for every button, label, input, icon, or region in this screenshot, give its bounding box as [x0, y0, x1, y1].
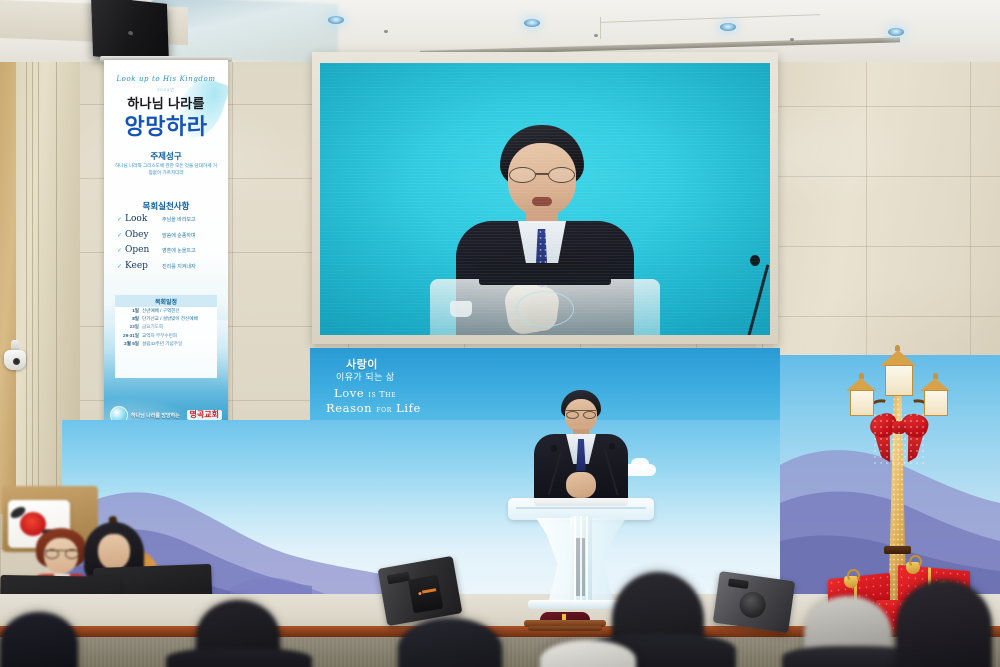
list-item: ✓ Open 영혼에 눈을뜨고 — [117, 245, 220, 255]
vision-banner: Look up to His Kingdom 2024년 하나님 나라를 앙망하… — [104, 60, 228, 430]
congregation-head — [0, 612, 78, 667]
practice-english: Keep — [125, 261, 159, 271]
banner-practice-list: ✓ Look 주님을 바라보고 ✓ Obey 말씀에 순종하며 ✓ Open 영… — [117, 214, 220, 276]
red-ribbon-bow — [872, 412, 926, 464]
list-item: ✓ Keep 진리를 지켜내자 — [117, 261, 220, 271]
microphone-head-icon — [609, 443, 615, 450]
face — [98, 534, 130, 570]
wall-text-isthe: is The — [369, 390, 397, 399]
sanctuary-scene: Look up to His Kingdom 2024년 하나님 나라를 앙망하… — [0, 0, 1000, 667]
banner-logo-korean: 하나님 나라를 앙망하는 — [131, 412, 184, 419]
banner-section1-heading: 주제성구 — [104, 150, 228, 162]
wall-text-life: Life — [396, 401, 421, 415]
practice-korean: 말씀에 순종하며 — [162, 232, 196, 239]
practice-english: Look — [125, 214, 159, 224]
wall-text-english-line2: Reason for Life — [326, 401, 421, 415]
hands — [566, 472, 596, 498]
hanging-speaker — [91, 0, 169, 64]
practice-english: Open — [125, 245, 159, 255]
wall-text-love: Love — [334, 386, 364, 400]
wall-text-english-line1: Love is The — [334, 386, 396, 400]
check-icon: ✓ — [117, 217, 122, 223]
ceiling-panel-seam — [600, 17, 601, 39]
wall-text-reason: Reason — [326, 401, 372, 415]
list-item: ✓ Look 주님을 바라보고 — [117, 214, 220, 224]
flower-arrangement — [524, 612, 606, 634]
ceiling-sensor-icon — [594, 34, 598, 37]
banner-section2-heading: 목회실천사항 — [104, 200, 228, 212]
wall-text-korean-line2: 이유가 되는 삶 — [336, 370, 395, 383]
list-item: 1일 신년예배 / 구역헌신 — [119, 309, 215, 314]
glasses-lens-icon — [45, 549, 59, 559]
pulpit-column — [570, 516, 592, 604]
list-item: ✓ Obey 말씀에 순종하며 — [117, 230, 220, 240]
practice-english: Obey — [125, 230, 159, 240]
downlight-icon — [720, 23, 736, 31]
congregation-head — [896, 580, 992, 667]
banner-verse-text: 하나님 나라와 그리스도에 관한 모든 것을 담대하게 거침없이 가르치더라 — [114, 162, 218, 176]
ceiling-sensor-icon — [384, 30, 388, 33]
screen-vignette — [320, 63, 770, 335]
practice-korean: 주님을 바라보고 — [162, 216, 196, 223]
schedule-text: 신년예배 / 구역헌신 — [142, 309, 180, 314]
wall-text-for: for — [376, 405, 391, 414]
check-icon: ✓ — [117, 248, 122, 254]
glasses-icon — [566, 410, 596, 417]
check-icon: ✓ — [117, 264, 122, 270]
floor-monitor-speaker — [713, 571, 795, 633]
ceiling-sensor-icon — [790, 38, 794, 41]
banner-korean-line2: 앙망하라 — [104, 109, 228, 141]
security-camera-icon — [2, 340, 28, 370]
lamp-band — [884, 546, 911, 554]
check-icon: ✓ — [117, 233, 122, 239]
downlight-icon — [888, 28, 904, 36]
congregation-shoulders — [166, 648, 312, 667]
screen-frame — [312, 52, 778, 344]
banner-english-tagline: Look up to His Kingdom — [104, 75, 228, 83]
downlight-icon — [328, 16, 344, 24]
church-name: 명곡교회 — [187, 410, 222, 420]
downlight-icon — [524, 19, 540, 27]
schedule-day: 1일 — [119, 309, 139, 314]
lantern-icon — [880, 350, 916, 398]
led-projection-screen — [320, 63, 770, 335]
practice-korean: 진리를 지켜내자 — [162, 263, 196, 270]
microphone-head-icon — [551, 445, 557, 452]
glasses-lens-icon — [65, 549, 79, 559]
banner-schedule-heading: 목회일정 — [115, 295, 217, 307]
practice-korean: 영혼에 눈을뜨고 — [162, 247, 196, 254]
